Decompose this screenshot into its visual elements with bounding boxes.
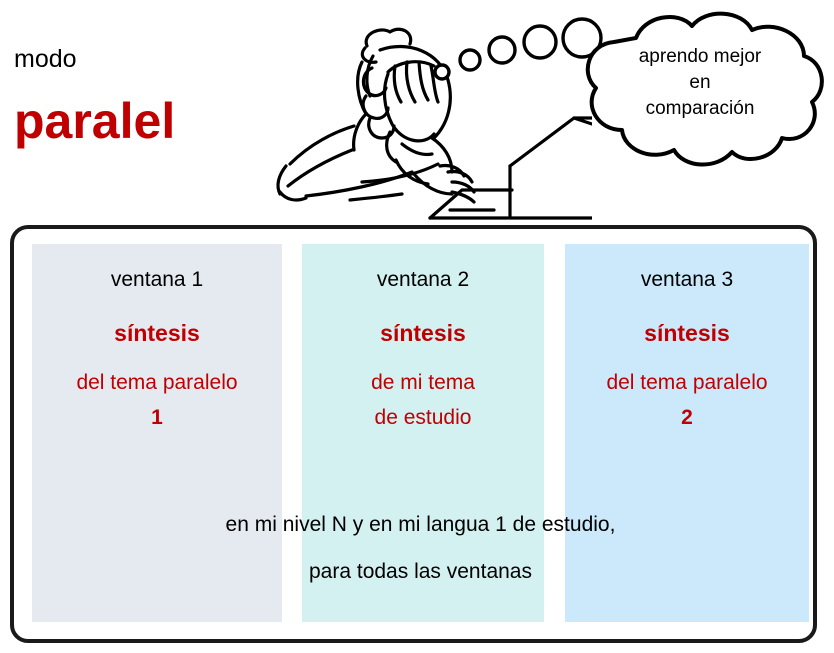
- synthesis-heading-1: síntesis: [32, 319, 282, 347]
- window-column-1[interactable]: ventana 1 síntesis del tema paralelo 1: [32, 244, 282, 622]
- cloud-text-line-1: aprendo mejor: [600, 44, 800, 70]
- window-label-1: ventana 1: [32, 266, 282, 294]
- topic-text-1: del tema paralelo 1: [32, 365, 282, 435]
- topic-text-2: de mi tema de estudio: [302, 365, 544, 435]
- columns-container: ventana 1 síntesis del tema paralelo 1 v…: [32, 244, 809, 622]
- topic-text-3: del tema paralelo 2: [565, 365, 809, 435]
- synthesis-heading-2: síntesis: [302, 319, 544, 347]
- window-column-3[interactable]: ventana 3 síntesis del tema paralelo 2: [565, 244, 809, 622]
- windows-panel: ventana 1 síntesis del tema paralelo 1 v…: [10, 225, 817, 643]
- mode-name: paralel: [14, 96, 175, 146]
- thought-cloud-text: aprendo mejor en comparación: [600, 44, 800, 122]
- cloud-text-line-3: comparación: [600, 96, 800, 122]
- topic-line-3-a: del tema paralelo: [565, 365, 809, 400]
- topic-line-2-a: de mi tema: [302, 365, 544, 400]
- window-label-3: ventana 3: [565, 266, 809, 294]
- topic-line-3-b: 2: [565, 400, 809, 435]
- cloud-text-line-2: en: [600, 70, 800, 96]
- window-label-2: ventana 2: [302, 266, 544, 294]
- topic-line-1-a: del tema paralelo: [32, 365, 282, 400]
- synthesis-heading-3: síntesis: [565, 319, 809, 347]
- topic-line-1-b: 1: [32, 400, 282, 435]
- topic-line-2-b: de estudio: [302, 400, 544, 435]
- header-area: modo paralel: [0, 0, 834, 225]
- window-column-2[interactable]: ventana 2 síntesis de mi tema de estudio: [302, 244, 544, 622]
- mode-label: modo: [14, 47, 77, 72]
